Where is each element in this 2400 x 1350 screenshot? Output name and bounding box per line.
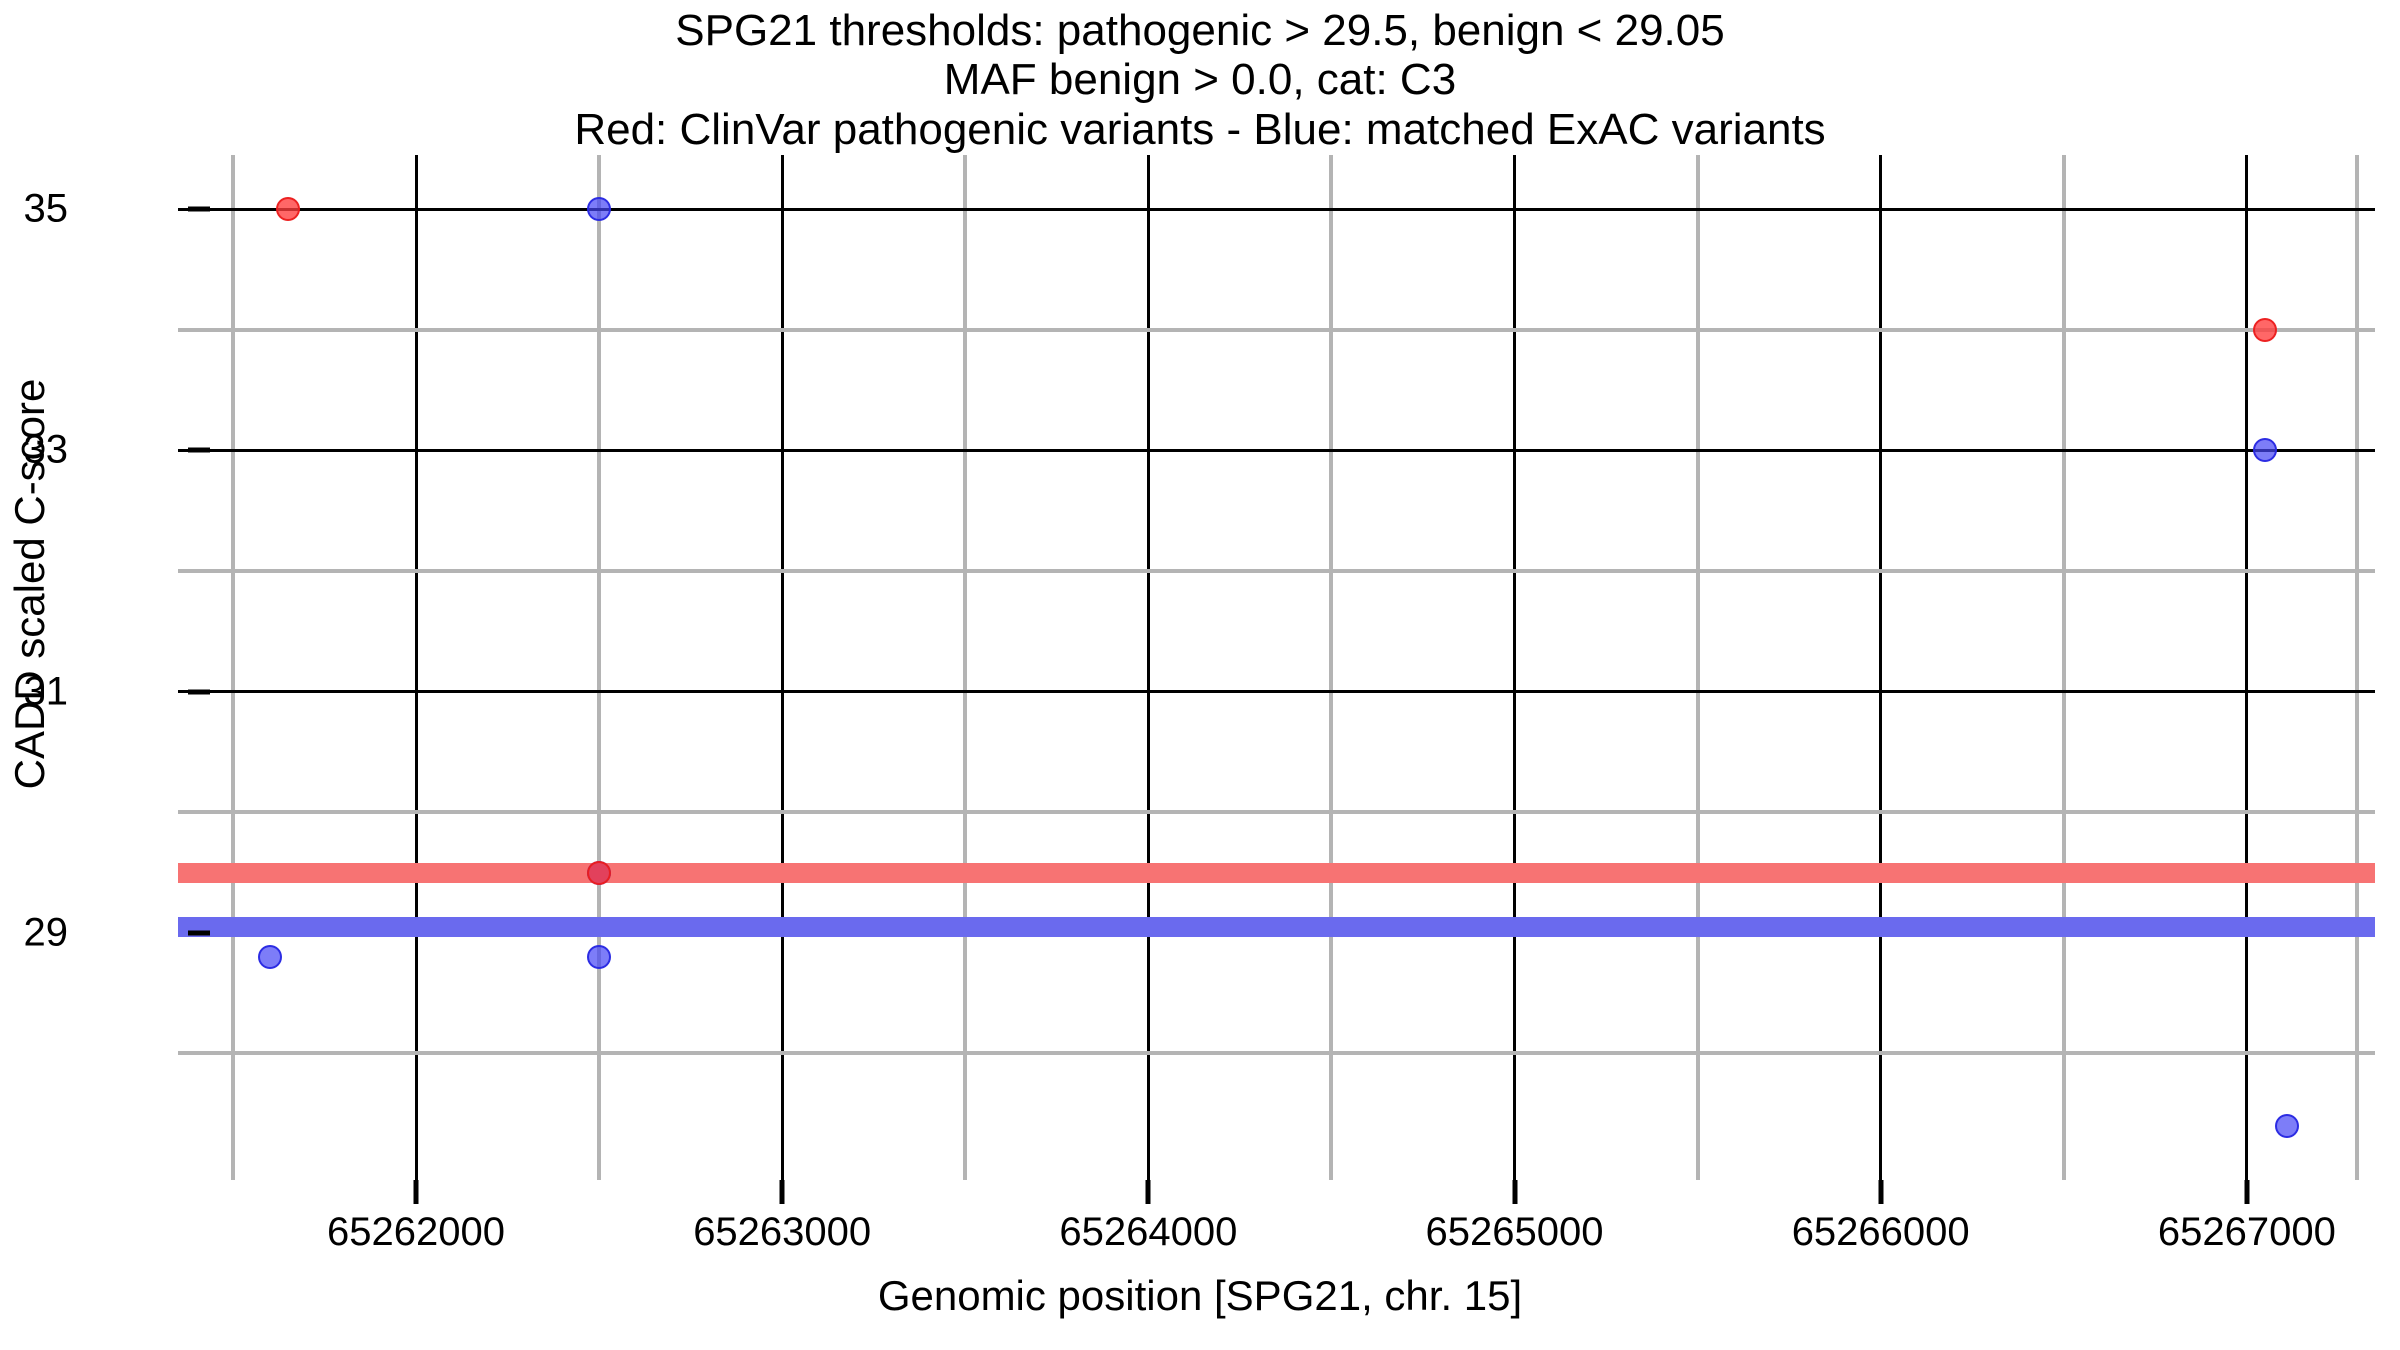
y-axis-tick-label: 31 bbox=[0, 669, 68, 714]
data-point-exac bbox=[587, 197, 611, 221]
gridline-x-minor bbox=[2062, 155, 2066, 1180]
threshold-line-benign bbox=[178, 917, 2375, 937]
x-axis-tick-mark bbox=[1512, 1180, 1517, 1204]
y-axis-tick-mark bbox=[188, 207, 210, 212]
y-axis-tick-mark bbox=[188, 930, 210, 935]
data-point-exac bbox=[2253, 438, 2277, 462]
chart-title: SPG21 thresholds: pathogenic > 29.5, ben… bbox=[0, 6, 2400, 154]
gridline-x-minor bbox=[963, 155, 967, 1180]
data-point-exac bbox=[258, 945, 282, 969]
y-axis-tick-mark bbox=[188, 689, 210, 694]
chart-title-line-3: Red: ClinVar pathogenic variants - Blue:… bbox=[0, 105, 2400, 154]
gridline-y-major bbox=[178, 208, 2375, 211]
x-axis-tick-mark bbox=[1146, 1180, 1151, 1204]
data-point-pathogenic bbox=[2253, 318, 2277, 342]
gridline-x-minor bbox=[1696, 155, 1700, 1180]
gridline-y-minor bbox=[178, 569, 2375, 573]
gridline-y-minor bbox=[178, 1051, 2375, 1055]
x-axis-tick-mark bbox=[2244, 1180, 2249, 1204]
y-axis-label: CADD scaled C-score bbox=[6, 184, 54, 984]
data-point-pathogenic bbox=[587, 861, 611, 885]
x-axis-tick-mark bbox=[1878, 1180, 1883, 1204]
data-point-pathogenic bbox=[276, 197, 300, 221]
gridline-x-major bbox=[1513, 155, 1516, 1180]
x-axis-tick-label: 65264000 bbox=[968, 1210, 1328, 1255]
x-axis-tick-mark bbox=[780, 1180, 785, 1204]
y-axis-tick-label: 35 bbox=[0, 187, 68, 232]
x-axis-label: Genomic position [SPG21, chr. 15] bbox=[0, 1272, 2400, 1320]
threshold-line-pathogenic bbox=[178, 863, 2375, 883]
x-axis-tick-label: 65262000 bbox=[236, 1210, 596, 1255]
gridline-x-major bbox=[781, 155, 784, 1180]
chart-title-line-1: SPG21 thresholds: pathogenic > 29.5, ben… bbox=[0, 6, 2400, 55]
gridline-y-minor bbox=[178, 810, 2375, 814]
gridline-x-major bbox=[1879, 155, 1882, 1180]
x-axis-tick-label: 65263000 bbox=[602, 1210, 962, 1255]
scatter-chart-figure: SPG21 thresholds: pathogenic > 29.5, ben… bbox=[0, 0, 2400, 1350]
y-axis-tick-label: 33 bbox=[0, 428, 68, 473]
x-axis-tick-label: 65266000 bbox=[1701, 1210, 2061, 1255]
y-axis-tick-label: 29 bbox=[0, 910, 68, 955]
gridline-x-minor bbox=[231, 155, 235, 1180]
chart-title-line-2: MAF benign > 0.0, cat: C3 bbox=[0, 55, 2400, 104]
gridline-x-minor bbox=[1329, 155, 1333, 1180]
x-axis-tick-label: 65265000 bbox=[1335, 1210, 1695, 1255]
gridline-x-major bbox=[415, 155, 418, 1180]
gridline-x-major bbox=[2245, 155, 2248, 1180]
gridline-y-minor bbox=[178, 328, 2375, 332]
x-axis-tick-label: 65267000 bbox=[2067, 1210, 2400, 1255]
gridline-y-major bbox=[178, 449, 2375, 452]
data-point-exac bbox=[587, 945, 611, 969]
x-axis-tick-mark bbox=[414, 1180, 419, 1204]
data-point-exac bbox=[2275, 1114, 2299, 1138]
plot-area bbox=[178, 155, 2375, 1180]
y-axis-tick-mark bbox=[188, 448, 210, 453]
gridline-x-major bbox=[1147, 155, 1150, 1180]
gridline-x-minor bbox=[597, 155, 601, 1180]
gridline-y-major bbox=[178, 690, 2375, 693]
gridline-x-minor bbox=[2355, 155, 2359, 1180]
